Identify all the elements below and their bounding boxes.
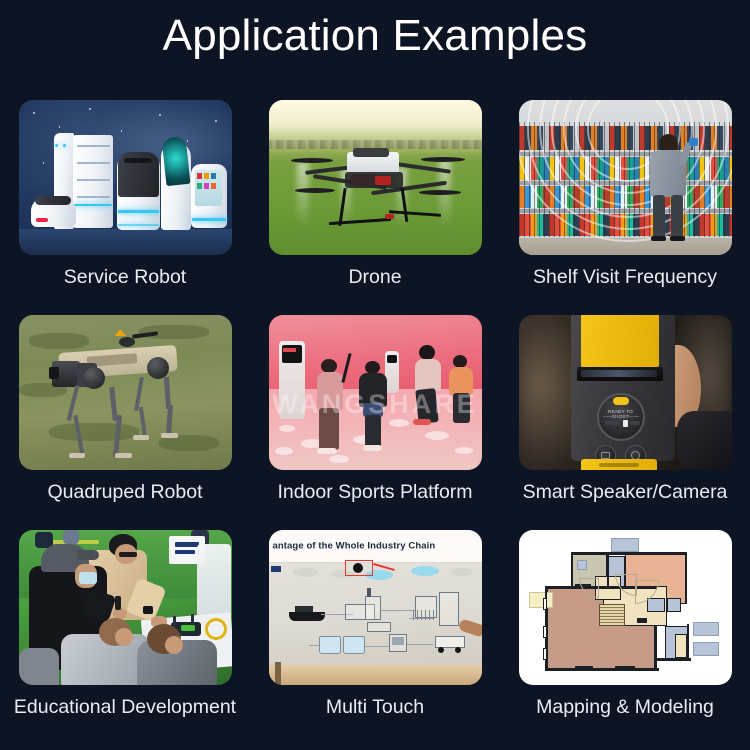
touch-wall-banner-text: antage of the Whole Industry Chain [273, 540, 436, 551]
scene-children-robotics-outdoor [19, 530, 232, 685]
card-drone[interactable]: Drone [250, 100, 500, 315]
scene-floor-plan-2d [519, 530, 732, 685]
card-indoor-sports-platform[interactable]: WANGSHARE Indoor Sports Platform [250, 315, 500, 530]
page-title: Application Examples [0, 14, 750, 58]
watermark: WANGSHARE [269, 389, 482, 420]
card-label: Quadruped Robot [47, 482, 202, 503]
scene-robot-dog-grass [19, 315, 232, 470]
application-examples-page: Application Examples [0, 0, 750, 750]
scene-handheld-yellow-black-scanner: READY TO SHOOT [519, 315, 732, 470]
thumbnail-educational-development[interactable] [19, 530, 232, 685]
card-service-robot[interactable]: Service Robot [0, 100, 250, 315]
card-multi-touch[interactable]: antage of the Whole Industry Chain [250, 530, 500, 745]
card-label: Educational Development [14, 697, 236, 718]
scene-kids-interactive-floor: WANGSHARE [269, 315, 482, 470]
card-educational-development[interactable]: Educational Development [0, 530, 250, 745]
scene-starry-night-robots [19, 100, 232, 255]
thumbnail-smart-speaker-camera[interactable]: READY TO SHOOT [519, 315, 732, 470]
thumbnail-multi-touch[interactable]: antage of the Whole Industry Chain [269, 530, 482, 685]
card-label: Service Robot [64, 267, 186, 288]
thumbnail-indoor-sports-platform[interactable]: WANGSHARE [269, 315, 482, 470]
card-label: Multi Touch [326, 697, 424, 718]
dial-status-text: READY TO SHOOT [599, 409, 643, 419]
card-mapping-modeling[interactable]: Mapping & Modeling [500, 530, 750, 745]
card-smart-speaker-camera[interactable]: READY TO SHOOT Smart Speaker/Camera [500, 315, 750, 530]
thumbnail-shelf-visit-frequency[interactable] [519, 100, 732, 255]
thumbnail-drone[interactable] [269, 100, 482, 255]
thumbnail-quadruped-robot[interactable] [19, 315, 232, 470]
floor [19, 229, 232, 255]
card-label: Shelf Visit Frequency [533, 267, 717, 288]
scene-supermarket-shelf-radar [519, 100, 732, 255]
card-quadruped-robot[interactable]: Quadruped Robot [0, 315, 250, 530]
thumbnail-service-robot[interactable] [19, 100, 232, 255]
thumbnail-mapping-modeling[interactable] [519, 530, 732, 685]
card-label: Indoor Sports Platform [277, 482, 472, 503]
scene-industry-chain-touch-wall: antage of the Whole Industry Chain [269, 530, 482, 685]
card-label: Drone [348, 267, 401, 288]
examples-grid: Service Robot [0, 100, 750, 750]
card-label: Mapping & Modeling [536, 697, 714, 718]
card-shelf-visit-frequency[interactable]: Shelf Visit Frequency [500, 100, 750, 315]
card-label: Smart Speaker/Camera [523, 482, 728, 503]
scene-agricultural-drone-field [269, 100, 482, 255]
